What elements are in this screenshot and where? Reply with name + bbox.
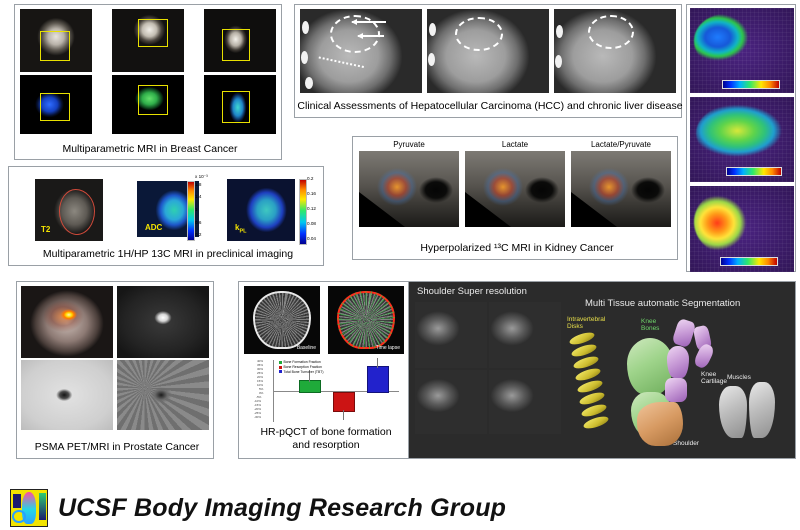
panel-preclinical-caption: Multiparametric 1H/HP 13C MRI in preclin… — [9, 246, 327, 262]
adc-tick-value: 0.2 — [195, 233, 201, 238]
chart-errorbar — [343, 410, 344, 420]
liver-perfusion-map-1 — [690, 8, 794, 93]
disk-segment — [582, 414, 610, 431]
segmentation-label-knee-cartilage: Knee Cartilage — [701, 371, 727, 386]
segmentation-title-right: Multi Tissue automatic Segmentation — [585, 298, 740, 309]
rib-marker — [305, 77, 313, 89]
bone-image-label: Baseline — [297, 345, 316, 351]
liver-ct-arterial — [300, 9, 422, 93]
shoulder-image-low-res — [415, 302, 487, 368]
chart-bar-resorption — [333, 392, 355, 412]
hrpqct-image-row: Baseline Time lapse — [239, 282, 409, 354]
preclinical-label-t2: T2 — [41, 225, 50, 234]
panel-hrpqct: Baseline Time lapse Bone Formation Fract… — [238, 281, 410, 459]
segmentation-label-knee-bones: Knee Bones — [641, 318, 659, 333]
legend-label: Bone Formation Fraction — [284, 360, 321, 364]
kpl-tick-value: 0.12 — [307, 207, 316, 212]
chart-errorbar — [377, 358, 378, 368]
panel-liver-perfusion-maps — [686, 4, 796, 272]
knee-cartilage-segment — [667, 346, 689, 378]
vessel-marker-dotted — [314, 56, 364, 89]
knee-cartilage-segment — [665, 378, 687, 402]
rib-marker — [302, 21, 309, 34]
rib-marker — [555, 55, 562, 68]
shoulder-image-super-res — [489, 302, 561, 368]
rib-marker — [428, 53, 435, 66]
kpl-tick-value: 0.04 — [307, 237, 316, 242]
dwi-high-b — [117, 286, 209, 358]
muscle-segment — [719, 386, 747, 438]
kpl-tick-value: 0.16 — [307, 192, 316, 197]
kidney-image-row — [353, 149, 677, 227]
formation-overlay — [337, 291, 395, 348]
colorbar-horizontal — [720, 257, 778, 266]
panel-breast-cancer: Multiparametric MRI in Breast Cancer — [14, 4, 282, 160]
breast-map-ktrans — [112, 75, 184, 134]
adc-tick-value: 1.8 — [195, 183, 201, 188]
liver-ct-portal — [427, 9, 549, 93]
logo-square — [13, 494, 21, 508]
map-blob — [696, 101, 782, 163]
panel-prostate-caption: PSMA PET/MRI in Prostate Cancer — [17, 439, 217, 455]
label-line-2: Disks — [567, 323, 583, 330]
panel-kidney-caption: Hyperpolarized ¹³C MRI in Kidney Cancer — [353, 240, 681, 256]
panel-preclinical: T2 ADC x 10⁻³ 1.8 1.4 1 0.6 0.2 kPL 0.2 … — [8, 166, 324, 266]
lesion-marker-dashed — [455, 17, 503, 51]
segmentation-label-intravertebral-disks: Intravertebral Disks — [567, 316, 605, 331]
hrpqct-caption-line1: HR-pQCT of bone formation — [241, 426, 411, 439]
adc-tick-value: 1 — [195, 208, 198, 213]
colorbar-horizontal — [722, 80, 780, 89]
psma-pet-mri-fusion — [21, 286, 113, 358]
segmentation-label-shoulder: Shoulder — [673, 440, 699, 447]
shoulder-image-low-res-2 — [415, 370, 487, 434]
label-line-2: Bones — [641, 325, 659, 332]
liver-ct-delayed — [554, 9, 676, 93]
kidney-map-pyruvate — [359, 151, 459, 227]
roi-box — [138, 85, 168, 115]
anatomy-dark-region — [631, 177, 665, 203]
kidney-subcaption-lactate: Lactate — [465, 140, 565, 149]
hrpqct-caption-line2: and resorption — [241, 439, 411, 452]
kpl-tick-value: 0.08 — [307, 222, 316, 227]
prostate-image-row-bottom — [17, 358, 213, 430]
annotation-arrow — [352, 21, 386, 23]
rib-marker — [301, 51, 308, 64]
rib-marker — [556, 25, 563, 38]
lesion-marker-dashed — [588, 15, 634, 49]
label-line-1: Knee — [701, 371, 716, 378]
metabolite-overlay — [377, 168, 417, 206]
label-line-2: Cartilage — [701, 378, 727, 385]
adc-colorbar — [187, 181, 195, 241]
metabolite-overlay — [589, 168, 629, 206]
panel-hrpqct-caption: HR-pQCT of bone formation and resorption — [239, 424, 413, 453]
bone-turnover-chart: Bone Formation Fraction Bone Resorption … — [251, 358, 401, 424]
legend-swatch — [279, 366, 282, 369]
adc-tick-value: 1.4 — [195, 195, 201, 200]
tumor-outline — [59, 189, 95, 235]
panel-hcc-caption: Clinical Assessments of Hepatocellular C… — [295, 98, 685, 114]
breast-mri-subtraction — [204, 9, 276, 72]
legend-swatch — [279, 370, 282, 373]
breast-map-adc — [20, 75, 92, 134]
knee-cartilage-segment — [671, 318, 696, 348]
susceptibility-map — [117, 360, 209, 430]
liver-perfusion-map-2 — [690, 97, 794, 182]
adc-tick-value: 0.6 — [195, 221, 201, 226]
prostate-image-row-top — [17, 282, 213, 358]
kidney-subcaption-row: Pyruvate Lactate Lactate/Pyruvate — [353, 137, 677, 149]
bone-image-timelapse: Time lapse — [328, 286, 404, 354]
kpl-colorbar — [299, 179, 307, 245]
breast-mri-post-contrast — [112, 9, 184, 72]
anatomy-dark-region — [419, 177, 453, 203]
bone-image-label: Time lapse — [376, 345, 400, 351]
kpl-tick-value: 0.2 — [307, 177, 313, 182]
panel-kidney-hp13c: Pyruvate Lactate Lactate/Pyruvate Hyperp… — [352, 136, 678, 260]
legend-entry-turnover: Total Bone Turnover (TBT) — [279, 370, 323, 375]
kidney-map-lactate — [465, 151, 565, 227]
kidney-caption-text: Hyperpolarized ¹³C MRI in Kidney Cancer — [420, 242, 613, 254]
ucsf-body-imaging-logo — [10, 489, 48, 527]
footer-branding: UCSF Body Imaging Research Group — [0, 486, 800, 530]
segmentation-title-left: Shoulder Super resolution — [417, 286, 527, 297]
annotation-arrow — [358, 35, 384, 37]
legend-swatch — [279, 361, 282, 364]
adc-map — [21, 360, 113, 430]
preclinical-label-adc: ADC — [145, 223, 162, 232]
preclinical-label-kpl: kPL — [235, 223, 246, 235]
colorbar-horizontal — [726, 167, 782, 176]
metabolite-overlay — [483, 168, 523, 206]
logo-ring — [12, 510, 25, 523]
breast-map-kep — [204, 75, 276, 134]
chart-bar-formation — [299, 380, 321, 393]
shoulder-image-super-res-2 — [489, 370, 561, 434]
chart-bar-turnover — [367, 366, 389, 393]
anatomy-dark-region — [525, 177, 559, 203]
panel-breast-caption: Multiparametric MRI in Breast Cancer — [15, 141, 285, 157]
roi-box — [40, 31, 70, 61]
shoulder-segment — [637, 402, 683, 446]
muscle-segment — [749, 382, 775, 438]
breast-image-row-top — [15, 5, 281, 72]
roi-box — [138, 19, 168, 47]
adc-tick-exponent: x 10⁻³ — [195, 175, 208, 180]
chart-legend: Bone Formation Fraction Bone Resorption … — [279, 360, 323, 375]
legend-label: Total Bone Turnover (TBT) — [284, 370, 324, 374]
segmentation-label-muscles: Muscles — [727, 374, 751, 381]
label-line-1: Intravertebral — [567, 316, 605, 323]
brand-title: UCSF Body Imaging Research Group — [58, 494, 506, 523]
roi-box — [222, 29, 250, 61]
rib-marker — [429, 23, 436, 36]
panel-prostate: PSMA PET/MRI in Prostate Cancer — [16, 281, 214, 459]
cortical-shell — [253, 291, 311, 348]
kidney-subcaption-lactate-pyruvate: Lactate/Pyruvate — [571, 140, 671, 149]
bone-image-baseline: Baseline — [244, 286, 320, 354]
roi-box — [40, 93, 70, 121]
hcc-image-row — [295, 5, 681, 93]
logo-bar — [39, 493, 45, 520]
kidney-subcaption-pyruvate: Pyruvate — [359, 140, 459, 149]
panel-hcc: Clinical Assessments of Hepatocellular C… — [294, 4, 682, 118]
label-line-1: Knee — [641, 318, 656, 325]
breast-image-row-bottom — [15, 72, 281, 134]
roi-box — [222, 91, 250, 123]
chart-ytick: -30% — [254, 415, 261, 419]
panel-segmentation: Shoulder Super resolution Multi Tissue a… — [408, 281, 796, 459]
kidney-map-lactate-pyruvate — [571, 151, 671, 227]
breast-mri-pre-contrast — [20, 9, 92, 72]
legend-label: Bone Resorption Fraction — [284, 365, 322, 369]
liver-perfusion-map-3 — [690, 186, 794, 272]
